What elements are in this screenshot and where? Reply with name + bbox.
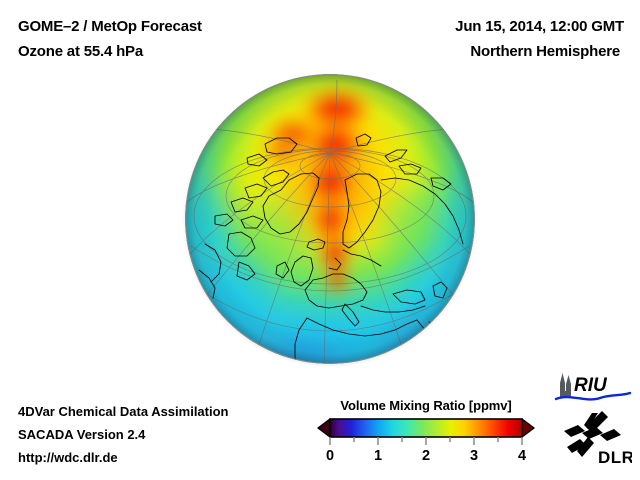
colorbar-tick-4: 4	[518, 448, 526, 464]
ozone-field	[185, 74, 475, 364]
colorbar-extend-max	[522, 419, 534, 437]
riu-logo-text: RIU	[574, 375, 608, 396]
globe-shading	[185, 74, 475, 364]
colorbar-tick-labels: 0 1 2 3 4	[326, 448, 526, 464]
footer-metadata: 4DVar Chemical Data Assimilation SACADA …	[18, 400, 318, 469]
header-left-block: GOME–2 / MetOp Forecast Ozone at 55.4 hP…	[18, 14, 348, 64]
source-url[interactable]: http://wdc.dlr.de	[18, 446, 318, 469]
colorbar-gradient	[330, 419, 522, 437]
colorbar-tick-0: 0	[326, 448, 334, 464]
version-label: SACADA Version 2.4	[18, 423, 318, 446]
page-title: GOME–2 / MetOp Forecast	[18, 14, 348, 39]
colorbar-block: Volume Mixing Ratio [ppmv]	[312, 398, 540, 465]
method-label: 4DVar Chemical Data Assimilation	[18, 400, 318, 423]
globe-visualization	[181, 71, 479, 369]
dlr-logo: DLR	[558, 409, 632, 471]
globe-disc	[185, 74, 475, 364]
colorbar-ticks	[330, 437, 522, 445]
colorbar-extend-min	[318, 419, 330, 437]
cathedral-icon	[560, 373, 571, 397]
dlr-logo-text: DLR	[598, 448, 632, 467]
colorbar-title: Volume Mixing Ratio [ppmv]	[312, 398, 540, 413]
hemisphere-label: Northern Hemisphere	[324, 39, 624, 64]
colorbar-tick-1: 1	[374, 448, 382, 464]
colorbar-tick-3: 3	[470, 448, 478, 464]
riu-logo: RIU	[552, 371, 634, 405]
colorbar-tick-2: 2	[422, 448, 430, 464]
header-right-block: Jun 15, 2014, 12:00 GMT Northern Hemisph…	[324, 14, 624, 64]
colorbar: 0 1 2 3 4	[312, 417, 540, 465]
page-subtitle: Ozone at 55.4 hPa	[18, 39, 348, 64]
forecast-datetime: Jun 15, 2014, 12:00 GMT	[324, 14, 624, 39]
